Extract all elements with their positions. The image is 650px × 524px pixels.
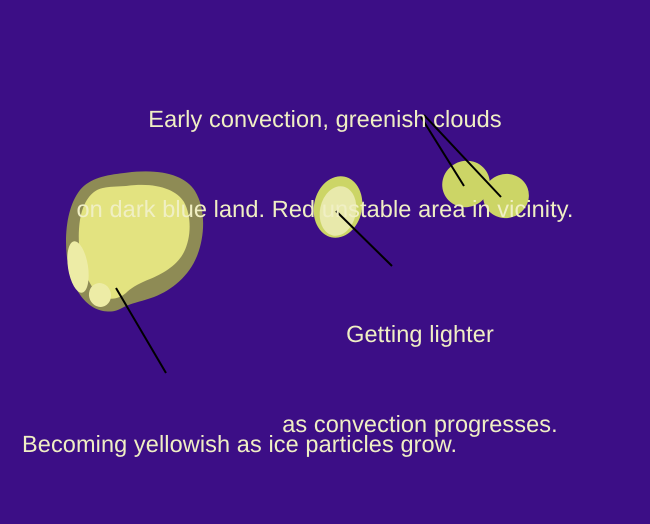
top-annotation-line-2: on dark blue land. Red unstable area in … <box>0 194 650 224</box>
figure-canvas: Early convection, greenish clouds on dar… <box>0 0 650 524</box>
top-annotation: Early convection, greenish clouds on dar… <box>0 44 650 284</box>
top-annotation-line-1: Early convection, greenish clouds <box>0 104 650 134</box>
middle-annotation-line-1: Getting lighter <box>247 319 593 349</box>
bottom-annotation-line-1: Becoming yellowish as ice particles grow… <box>22 429 457 459</box>
bottom-annotation-line-2: Cirrus anvils or overshooting tops <box>22 519 457 524</box>
bottom-annotation: Becoming yellowish as ice particles grow… <box>22 369 457 524</box>
